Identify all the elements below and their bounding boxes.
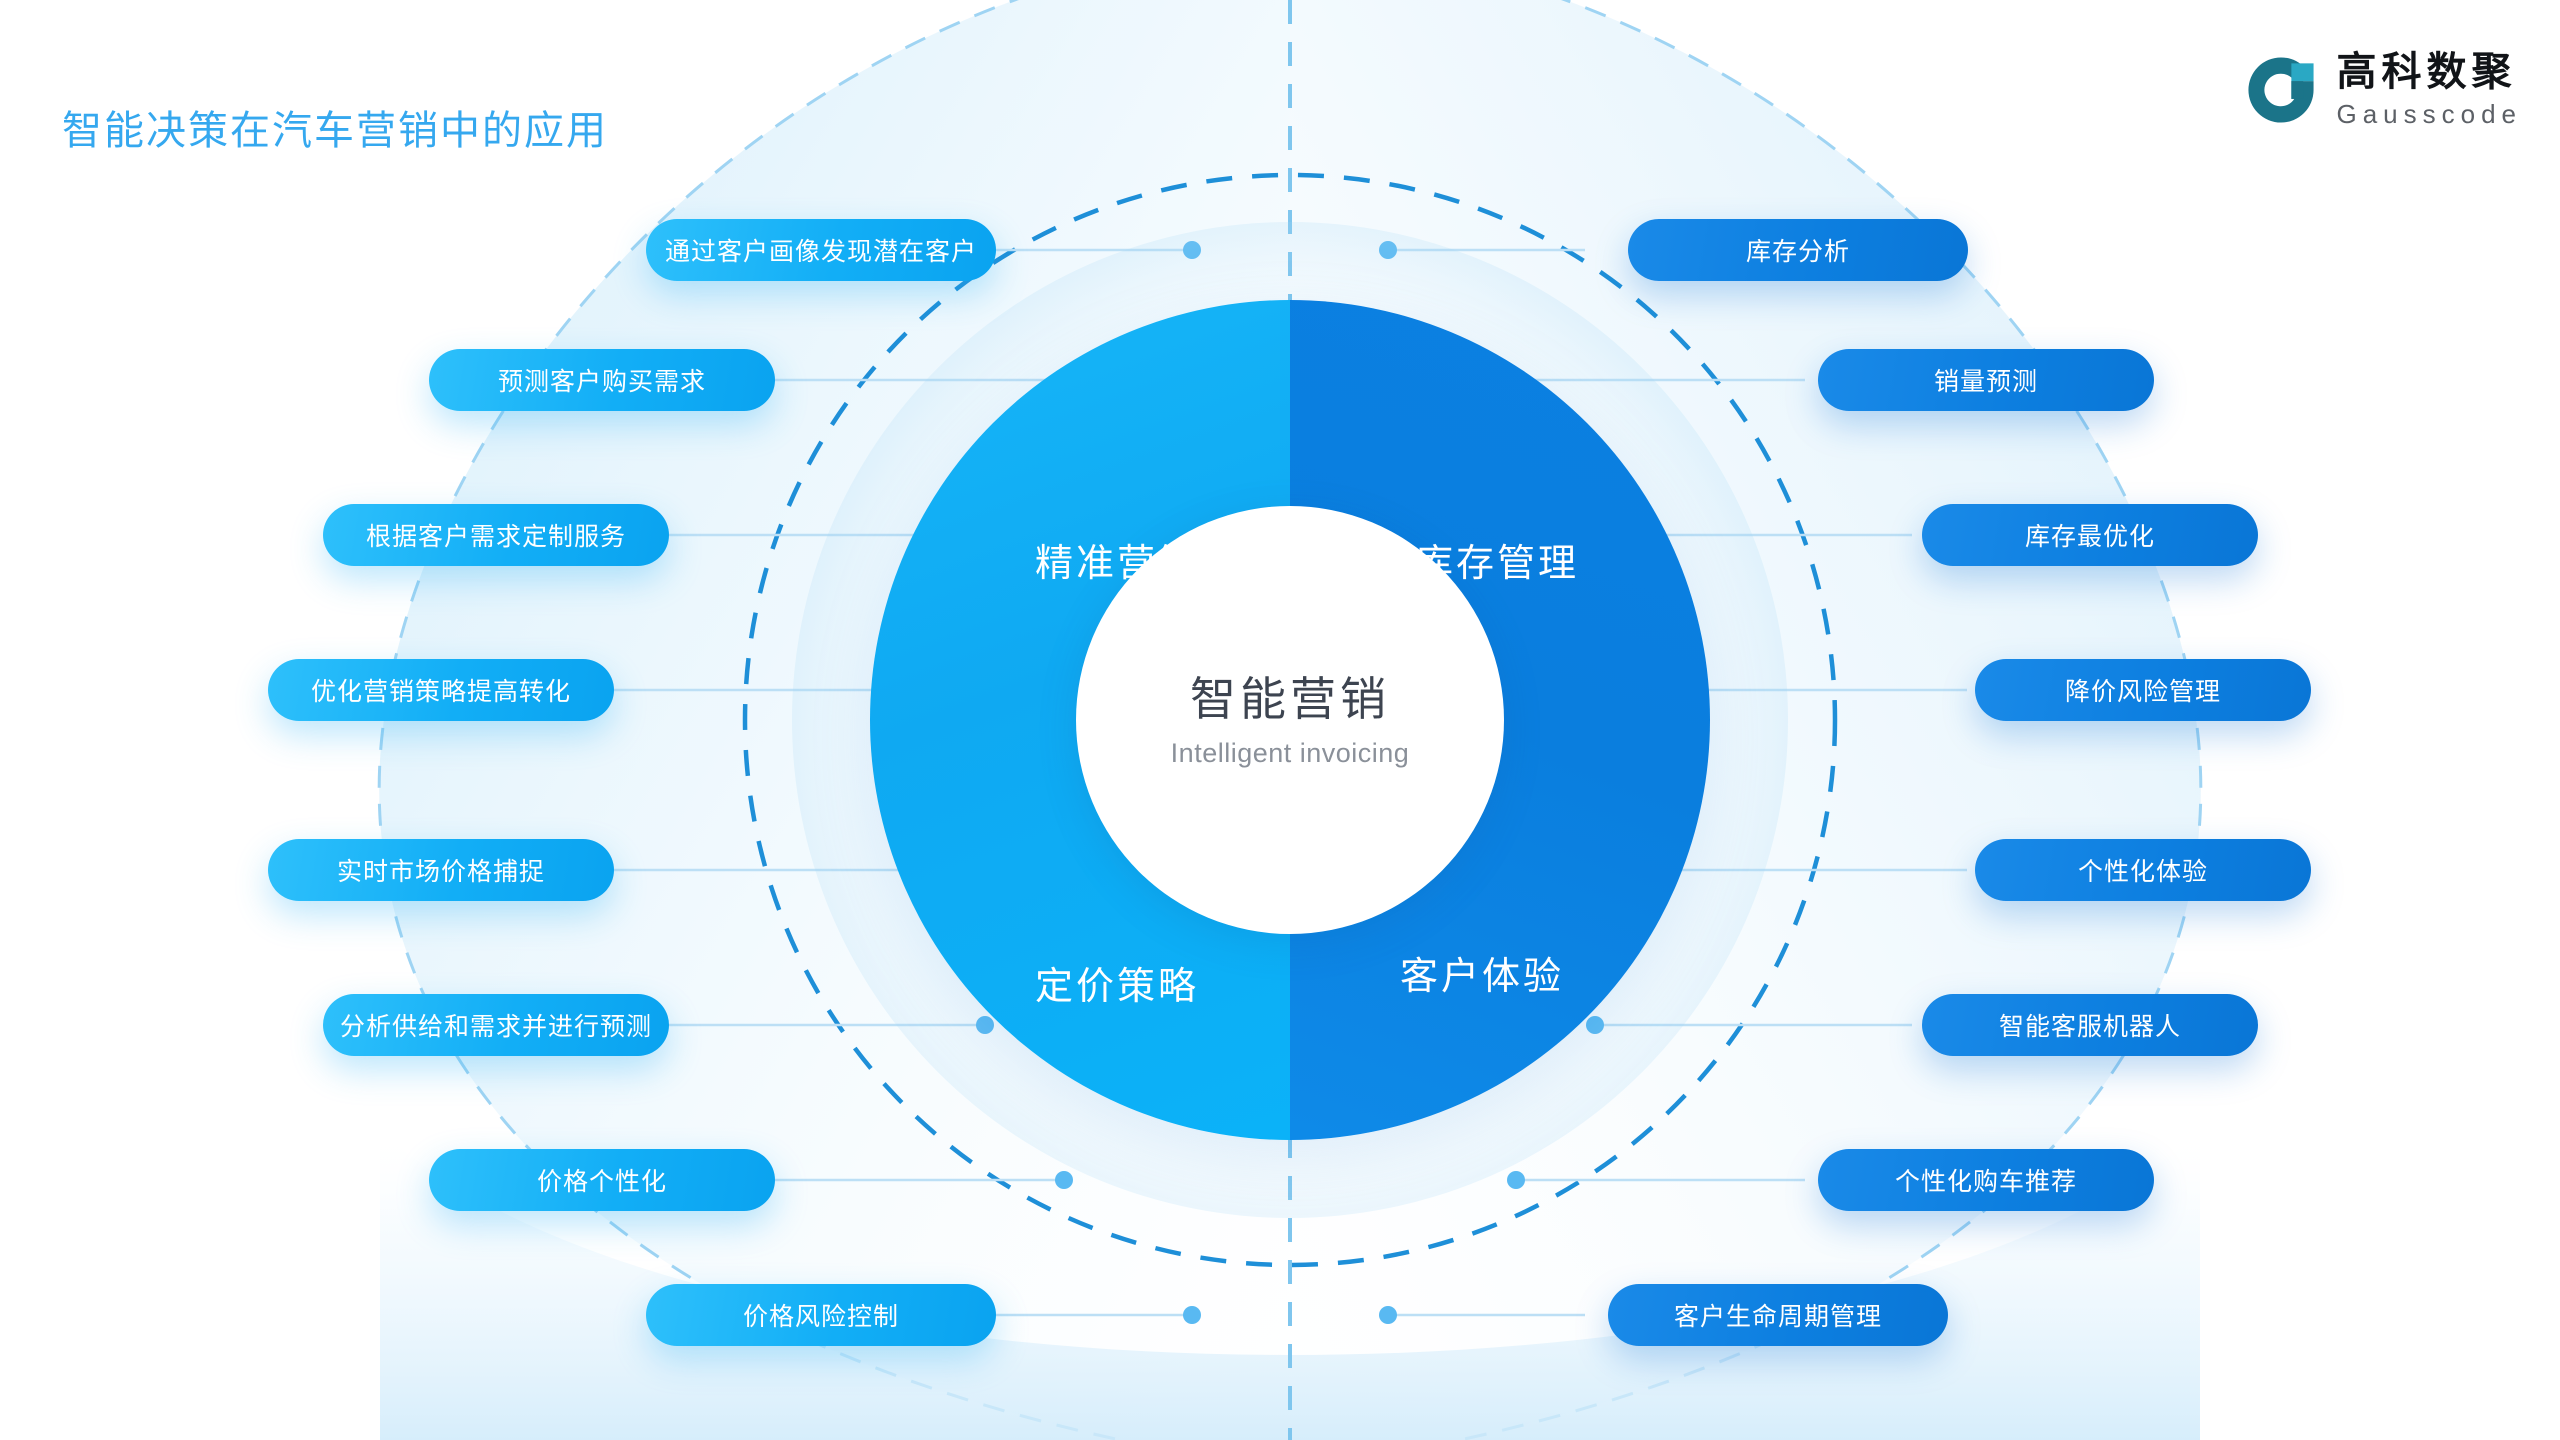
left-pill-1[interactable]: 通过客户画像发现潜在客户 — [646, 219, 996, 281]
quadrant-label-top-right: 库存管理 — [1415, 532, 1579, 587]
quadrant-label-bottom-right: 客户体验 — [1400, 945, 1564, 1000]
right-pill-2[interactable]: 销量预测 — [1818, 349, 2154, 411]
left-pill-3[interactable]: 根据客户需求定制服务 — [323, 504, 669, 566]
right-pill-1[interactable]: 库存分析 — [1628, 219, 1968, 281]
right-pill-7[interactable]: 个性化购车推荐 — [1818, 1149, 2154, 1211]
center-title-en: Intelligent invoicing — [1171, 738, 1410, 769]
left-pill-8[interactable]: 价格风险控制 — [646, 1284, 996, 1346]
page-title: 智能决策在汽车营销中的应用 — [62, 98, 608, 156]
infographic-canvas: 智能决策在汽车营销中的应用 高科数聚 Gausscode 智能营销 Intell… — [0, 0, 2560, 1440]
right-pill-4[interactable]: 降价风险管理 — [1975, 659, 2311, 721]
left-pill-7[interactable]: 价格个性化 — [429, 1149, 775, 1211]
left-pill-5[interactable]: 实时市场价格捕捉 — [268, 839, 614, 901]
logo-english-name: Gausscode — [2336, 101, 2522, 127]
center-title-cn: 智能营销 — [1190, 671, 1390, 729]
right-pill-5[interactable]: 个性化体验 — [1975, 839, 2311, 901]
quadrant-label-top-left: 精准营销 — [1035, 532, 1199, 587]
right-pill-3[interactable]: 库存最优化 — [1922, 504, 2258, 566]
logo-wordmark: 高科数聚 Gausscode — [2336, 52, 2522, 127]
left-pill-2[interactable]: 预测客户购买需求 — [429, 349, 775, 411]
right-pill-6[interactable]: 智能客服机器人 — [1922, 994, 2258, 1056]
left-pill-4[interactable]: 优化营销策略提高转化 — [268, 659, 614, 721]
right-pill-8[interactable]: 客户生命周期管理 — [1608, 1284, 1948, 1346]
central-donut: 智能营销 Intelligent invoicing — [870, 300, 1710, 1140]
logo-chinese-name: 高科数聚 — [2336, 52, 2522, 92]
left-pill-6[interactable]: 分析供给和需求并进行预测 — [323, 994, 669, 1056]
brand-logo: 高科数聚 Gausscode — [2244, 52, 2522, 127]
gausscode-g-mark-icon — [2244, 53, 2318, 127]
quadrant-label-bottom-left: 定价策略 — [1035, 955, 1199, 1010]
